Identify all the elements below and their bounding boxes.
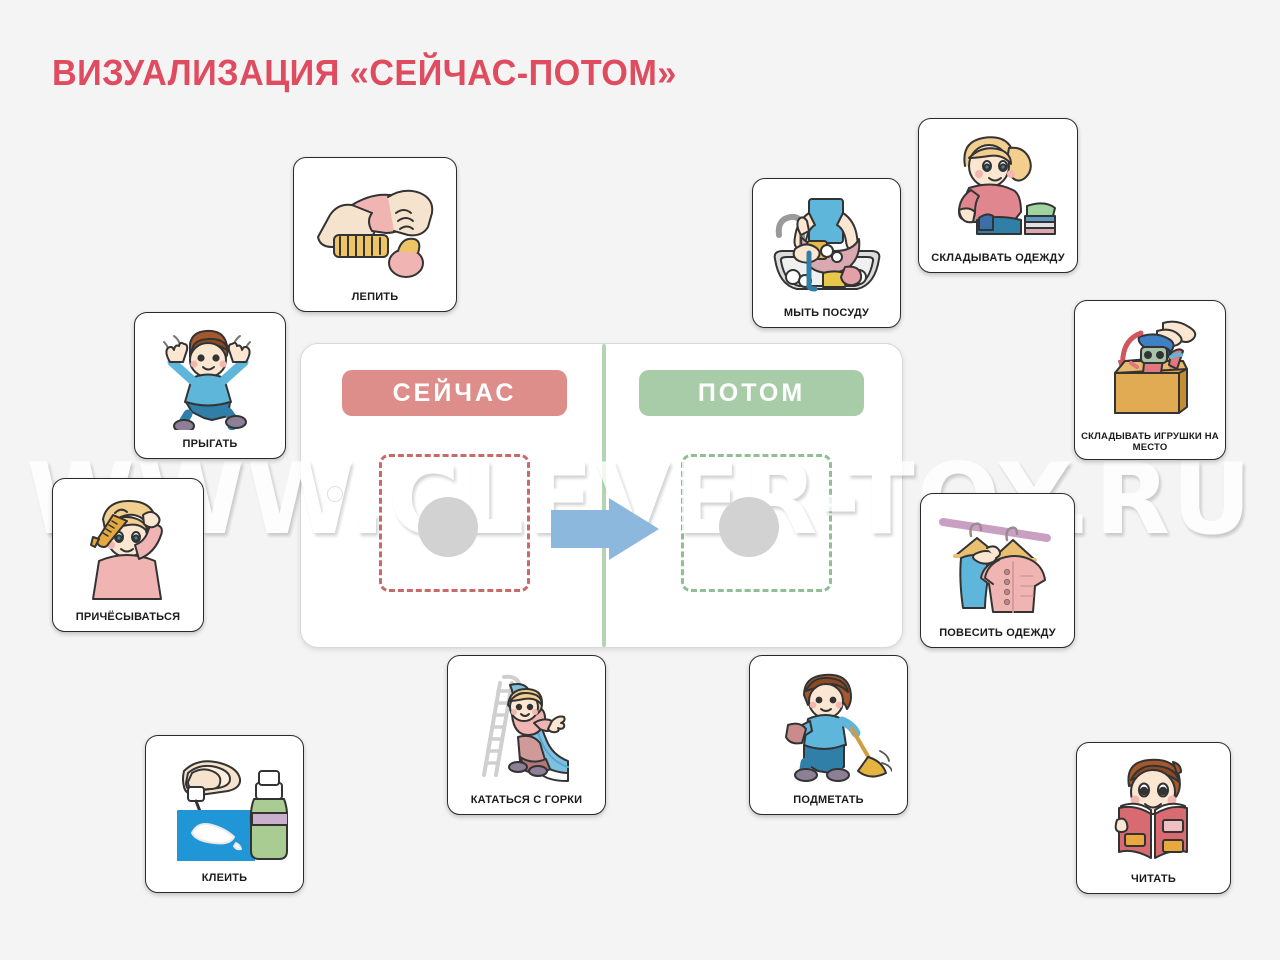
card-kleit[interactable]: КЛЕИТЬ xyxy=(145,735,304,893)
boy-reading-icon xyxy=(1077,743,1230,873)
card-caption: СКЛАДЫВАТЬ ОДЕЖДУ xyxy=(919,252,1077,272)
card-prichesyvatsya[interactable]: ПРИЧЁСЫВАТЬСЯ xyxy=(52,478,204,632)
glue-bottle-icon xyxy=(146,736,303,872)
now-then-board[interactable]: СЕЙЧАС ПОТОМ xyxy=(300,343,903,648)
toys-in-box-icon xyxy=(1075,301,1225,432)
card-lepit[interactable]: ЛЕПИТЬ xyxy=(293,157,457,312)
jumping-boy-icon xyxy=(135,313,285,438)
now-velcro-dot xyxy=(418,497,478,557)
card-caption: КАТАТЬСЯ С ГОРКИ xyxy=(448,794,605,814)
card-caption: ЧИТАТЬ xyxy=(1077,873,1230,893)
now-label-pill: СЕЙЧАС xyxy=(342,370,567,416)
card-caption: ПРИЧЁСЫВАТЬСЯ xyxy=(53,611,203,631)
card-povesit-odezhdu[interactable]: ПОВЕСИТЬ ОДЕЖДУ xyxy=(920,493,1075,648)
then-label-pill: ПОТОМ xyxy=(639,370,864,416)
card-prygat[interactable]: ПРЫГАТЬ xyxy=(134,312,286,459)
card-katatsya[interactable]: КАТАТЬСЯ С ГОРКИ xyxy=(447,655,606,815)
card-podmetat[interactable]: ПОДМЕТАТЬ xyxy=(749,655,908,815)
card-caption: ПОДМЕТАТЬ xyxy=(750,794,907,814)
slide-girl-icon xyxy=(448,656,605,794)
card-caption: СКЛАДЫВАТЬ ИГРУШКИ НА МЕСТО xyxy=(1075,432,1225,459)
girl-combing-hair-icon xyxy=(53,479,203,611)
clothes-hanger-icon xyxy=(921,494,1074,627)
card-caption: МЫТЬ ПОСУДУ xyxy=(753,307,900,327)
boy-sweeping-icon xyxy=(750,656,907,794)
card-caption: ПОВЕСИТЬ ОДЕЖДУ xyxy=(921,627,1074,647)
card-caption: ПРЫГАТЬ xyxy=(135,438,285,458)
then-velcro-dot xyxy=(719,497,779,557)
card-myt-posudu[interactable]: МЫТЬ ПОСУДУ xyxy=(752,178,901,328)
card-skladyvat-odezhdu[interactable]: СКЛАДЫВАТЬ ОДЕЖДУ xyxy=(918,118,1078,273)
card-caption: КЛЕИТЬ xyxy=(146,872,303,892)
folding-clothes-icon xyxy=(919,119,1077,252)
punch-hole-icon xyxy=(327,486,343,502)
card-chitat[interactable]: ЧИТАТЬ xyxy=(1076,742,1231,894)
card-skladyvat-igrushki[interactable]: СКЛАДЫВАТЬ ИГРУШКИ НА МЕСТО xyxy=(1074,300,1226,460)
washing-dishes-icon xyxy=(753,179,900,307)
transition-arrow-icon xyxy=(551,498,659,560)
board-divider xyxy=(602,344,606,647)
poster-canvas: ВИЗУАЛИЗАЦИЯ «СЕЙЧАС-ПОТОМ» ЛЕПИТЬ xyxy=(0,0,1280,960)
hands-clay-icon xyxy=(294,158,456,291)
page-title: ВИЗУАЛИЗАЦИЯ «СЕЙЧАС-ПОТОМ» xyxy=(52,52,677,94)
card-caption: ЛЕПИТЬ xyxy=(294,291,456,311)
